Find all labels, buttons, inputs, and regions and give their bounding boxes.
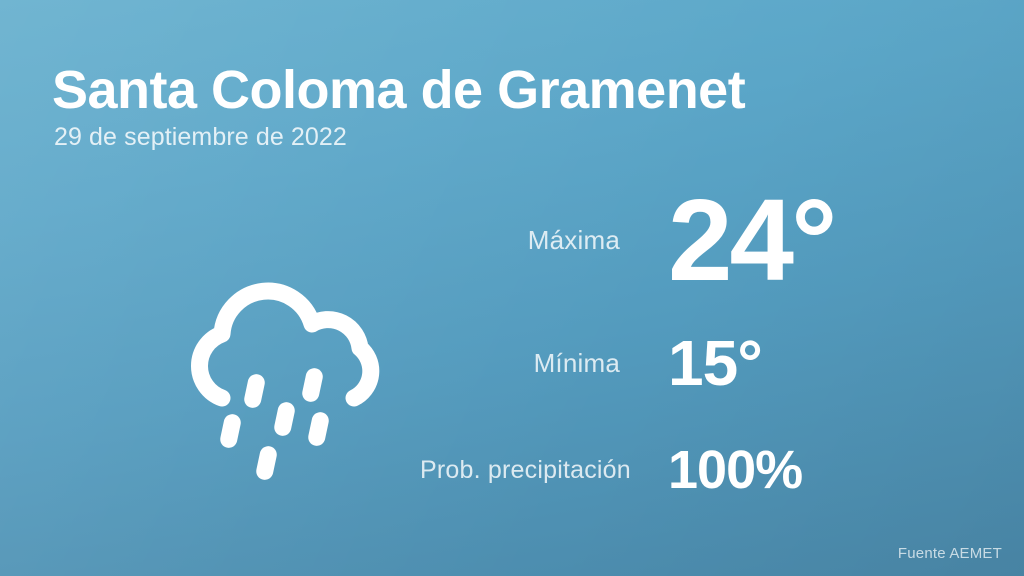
header: Santa Coloma de Gramenet 29 de septiembr… xyxy=(52,62,982,152)
readings-panel: Máxima 24° Mínima 15° Prob. precipitació… xyxy=(420,176,950,518)
source-attribution: Fuente AEMET xyxy=(898,545,1002,562)
maxima-label: Máxima xyxy=(420,225,668,256)
minima-value: 15° xyxy=(668,331,762,395)
maxima-value: 24° xyxy=(668,182,834,298)
cloud-outline xyxy=(199,291,370,398)
page-title: Santa Coloma de Gramenet xyxy=(52,62,982,118)
reading-row-precipitacion: Prob. precipitación 100% xyxy=(420,422,950,518)
forecast-date: 29 de septiembre de 2022 xyxy=(54,124,982,152)
reading-row-maxima: Máxima 24° xyxy=(420,176,950,304)
precipitacion-value: 100% xyxy=(668,443,802,497)
rain-drops xyxy=(219,367,331,482)
reading-row-minima: Mínima 15° xyxy=(420,304,950,422)
precipitacion-label: Prob. precipitación xyxy=(420,456,668,485)
rain-cloud-icon xyxy=(178,262,400,484)
weather-card: Santa Coloma de Gramenet 29 de septiembr… xyxy=(0,0,1024,576)
minima-label: Mínima xyxy=(420,348,668,379)
